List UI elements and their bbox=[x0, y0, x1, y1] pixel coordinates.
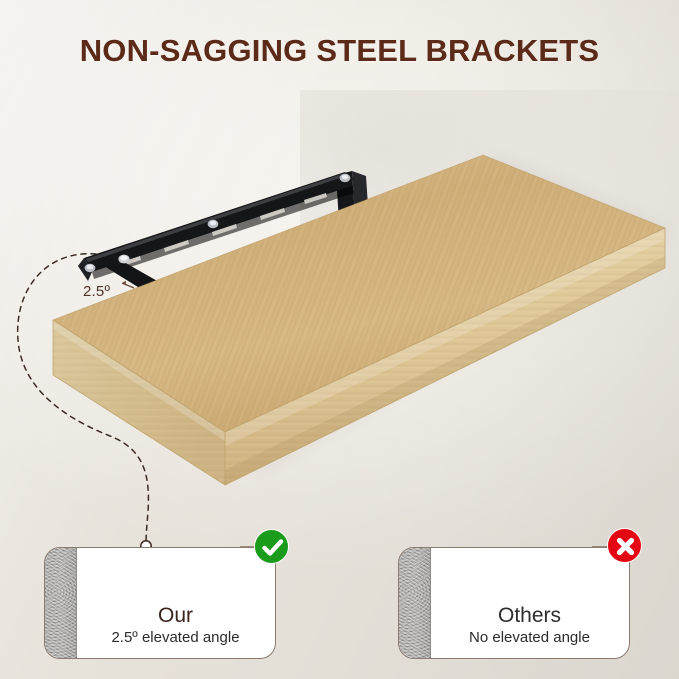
panel-our-subtitle: 2.5º elevated angle bbox=[76, 629, 275, 646]
product-feature-image: NON-SAGGING STEEL BRACKETS bbox=[0, 0, 679, 679]
panel-our-title: Our bbox=[76, 604, 275, 628]
floating-shelf bbox=[53, 155, 665, 485]
panel-others-title: Others bbox=[430, 604, 629, 628]
comparison-panel-our[interactable]: Our 2.5º elevated angle bbox=[44, 547, 276, 659]
wall-texture-our bbox=[45, 548, 77, 658]
cross-icon bbox=[607, 528, 642, 563]
panel-others-subtitle: No elevated angle bbox=[430, 629, 629, 646]
comparison-panel-others[interactable]: Others No elevated angle bbox=[398, 547, 630, 659]
hero-angle-label: 2.5º bbox=[83, 283, 110, 300]
check-icon bbox=[254, 529, 289, 564]
wall-texture-others bbox=[399, 548, 431, 658]
